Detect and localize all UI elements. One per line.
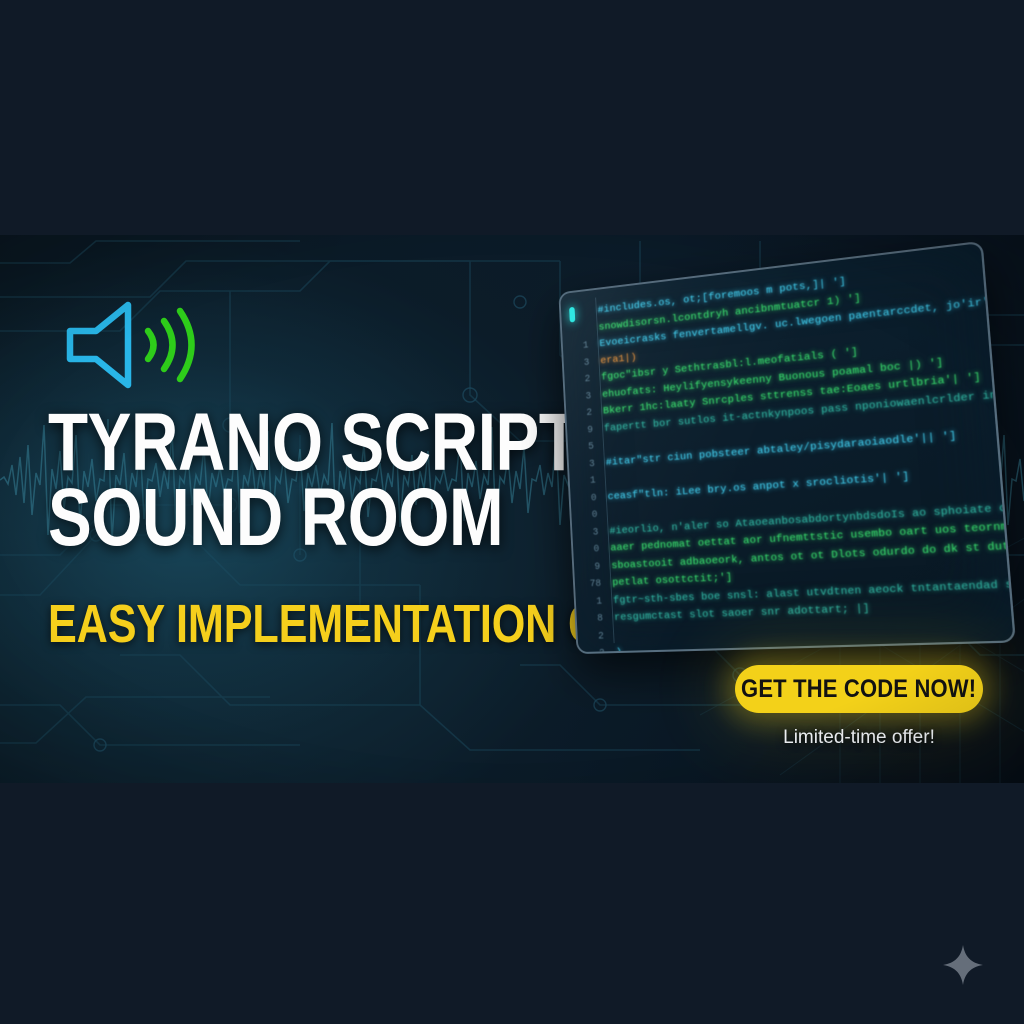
banner-canvas: TYRANO SCRIPT SOUND ROOM EASY IMPLEMENTA… (0, 0, 1024, 1024)
code-line-number: 9 (576, 422, 593, 440)
code-line-number: 2 (587, 628, 605, 646)
promo-banner: TYRANO SCRIPT SOUND ROOM EASY IMPLEMENTA… (0, 235, 1024, 783)
speaker-wave-icon (60, 295, 220, 395)
code-line-number (571, 331, 587, 333)
sparkle-icon (942, 944, 984, 986)
code-line-number: 0 (579, 490, 597, 508)
code-line-number: 2 (573, 371, 590, 389)
cta-subtext: Limited-time offer! (735, 727, 983, 749)
code-line-number: 1 (579, 473, 597, 491)
code-editor-content: #includes.os, ot;[foremoos m pots,]| ']s… (560, 243, 1013, 652)
code-line-number: 5 (577, 439, 594, 457)
get-the-code-now-button[interactable]: GET THE CODE NOW! (735, 665, 983, 713)
code-line-number: 3 (573, 354, 590, 372)
code-line-number: 3 (581, 524, 599, 542)
code-line-number: 2 (575, 405, 592, 423)
cta-button-label: GET THE CODE NOW! (741, 675, 976, 704)
code-line-text: ) (616, 645, 623, 652)
headline-line-2: SOUND ROOM (48, 480, 544, 555)
code-line-number: 78 (584, 576, 602, 594)
code-line-number (570, 314, 586, 316)
headline-line-1: TYRANO SCRIPT (48, 405, 544, 480)
code-line-number: 2 (587, 645, 605, 652)
code-line-number: 3 (578, 456, 595, 474)
code-line-number: 1 (585, 593, 603, 611)
code-monitor-panel: #includes.os, ot;[foremoos m pots,]| ']s… (558, 241, 1011, 650)
code-line-number: 3 (574, 388, 591, 406)
code-line-number: 1 (572, 338, 589, 356)
code-line-number: 9 (583, 558, 601, 576)
code-line-number: 8 (586, 610, 604, 628)
code-line-number: 0 (580, 507, 598, 525)
code-line-number: 0 (582, 541, 600, 559)
